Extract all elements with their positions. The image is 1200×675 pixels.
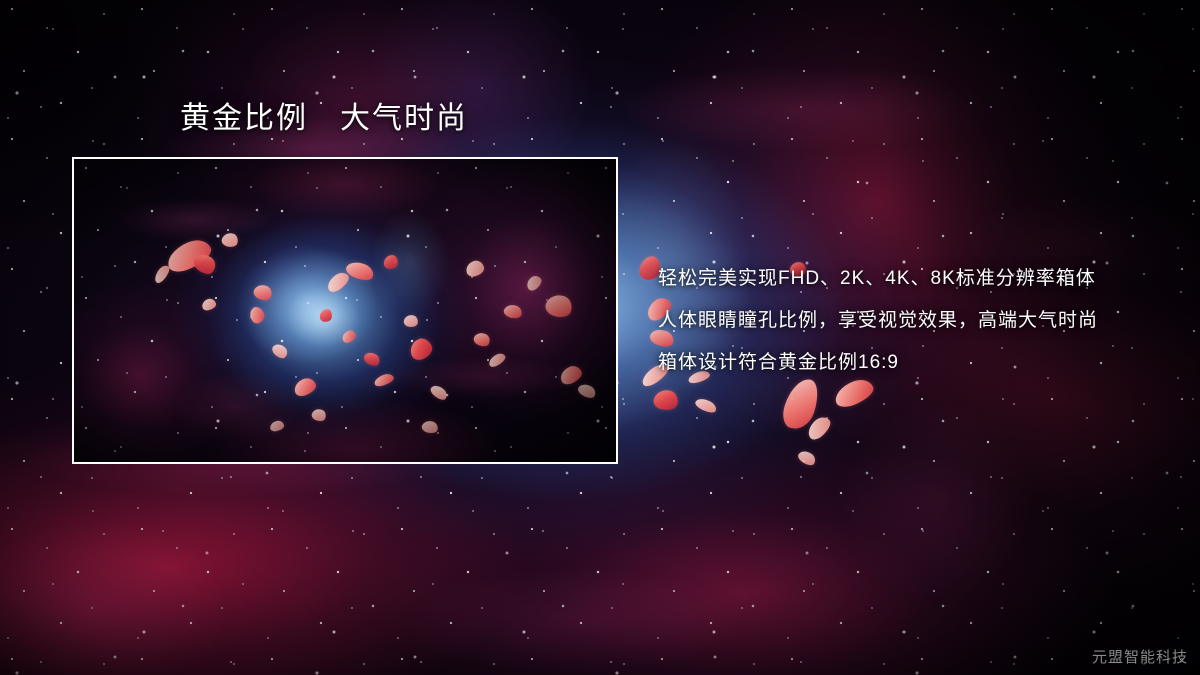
- slide-canvas: 黄金比例 大气时尚 轻松完美实现FHD、2K、4K、8K标准分辨率箱体 人体眼睛…: [0, 0, 1200, 675]
- body-line-1: 轻松完美实现FHD、2K、4K、8K标准分辨率箱体: [658, 258, 1178, 300]
- body-text-block: 轻松完美实现FHD、2K、4K、8K标准分辨率箱体 人体眼睛瞳孔比例，享受视觉效…: [658, 258, 1178, 384]
- petal: [804, 413, 834, 442]
- petal: [694, 396, 719, 416]
- photo-frame: [72, 157, 618, 464]
- petal: [796, 448, 818, 468]
- watermark: 元盟智能科技: [1092, 646, 1188, 667]
- page-title: 黄金比例 大气时尚: [180, 103, 468, 135]
- petal: [652, 388, 680, 413]
- body-line-3: 箱体设计符合黄金比例16:9: [658, 342, 1178, 384]
- body-line-2: 人体眼睛瞳孔比例，享受视觉效果，高端大气时尚: [658, 300, 1178, 342]
- photo-vignette: [74, 159, 616, 462]
